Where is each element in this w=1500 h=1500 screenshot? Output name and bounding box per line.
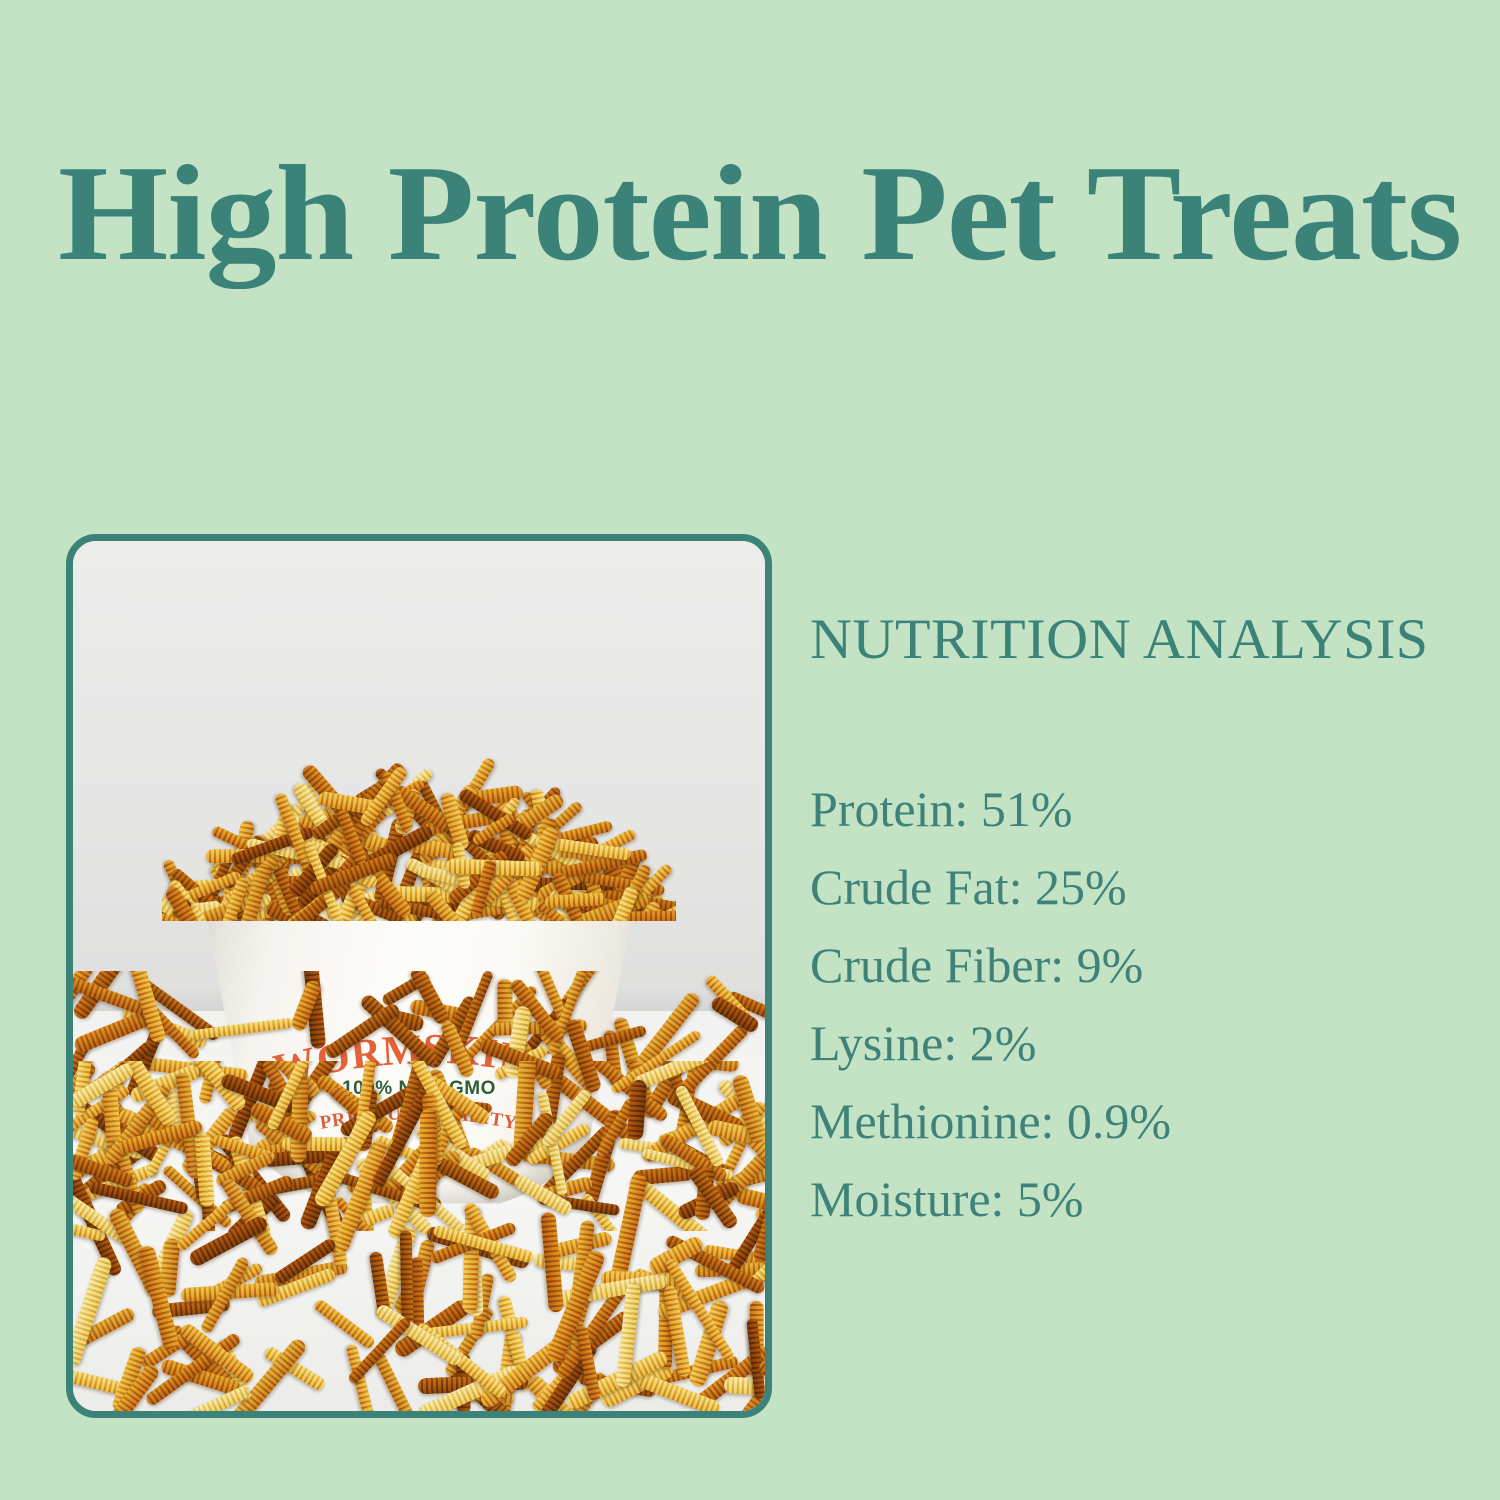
mealworm (73, 1256, 113, 1369)
infographic-page: High Protein Pet Treats WORMSKING 100% N… (0, 0, 1500, 1500)
nutrition-row: Protein: 51% (810, 770, 1470, 848)
nutrition-analysis-heading: NUTRITION ANALYSIS (810, 608, 1483, 672)
mealworm (627, 1080, 647, 1141)
nutrition-row: Lysine: 2% (810, 1004, 1470, 1082)
mealworm (419, 1109, 436, 1217)
nutrition-panel: NUTRITION ANALYSIS Protein: 51%Crude Fat… (810, 608, 1470, 1238)
nutrition-row: Methionine: 0.9% (810, 1082, 1470, 1160)
nutrition-row: Crude Fiber: 9% (810, 926, 1470, 1004)
mealworm (312, 1298, 376, 1351)
nutrition-row: Crude Fat: 25% (810, 848, 1470, 926)
mealworm-pile (162, 721, 676, 921)
product-photo: WORMSKING 100% NON-GMO PREMIUM QUALITY (73, 541, 765, 1411)
product-photo-card: WORMSKING 100% NON-GMO PREMIUM QUALITY (66, 534, 772, 1418)
page-title: High Protein Pet Treats (58, 138, 1500, 288)
mealworms-foreground (73, 1061, 765, 1411)
mealworm (372, 1352, 421, 1411)
mealworm (627, 911, 676, 921)
nutrition-row: Moisture: 5% (810, 1160, 1470, 1238)
nutrition-list: Protein: 51%Crude Fat: 25%Crude Fiber: 9… (810, 770, 1470, 1238)
